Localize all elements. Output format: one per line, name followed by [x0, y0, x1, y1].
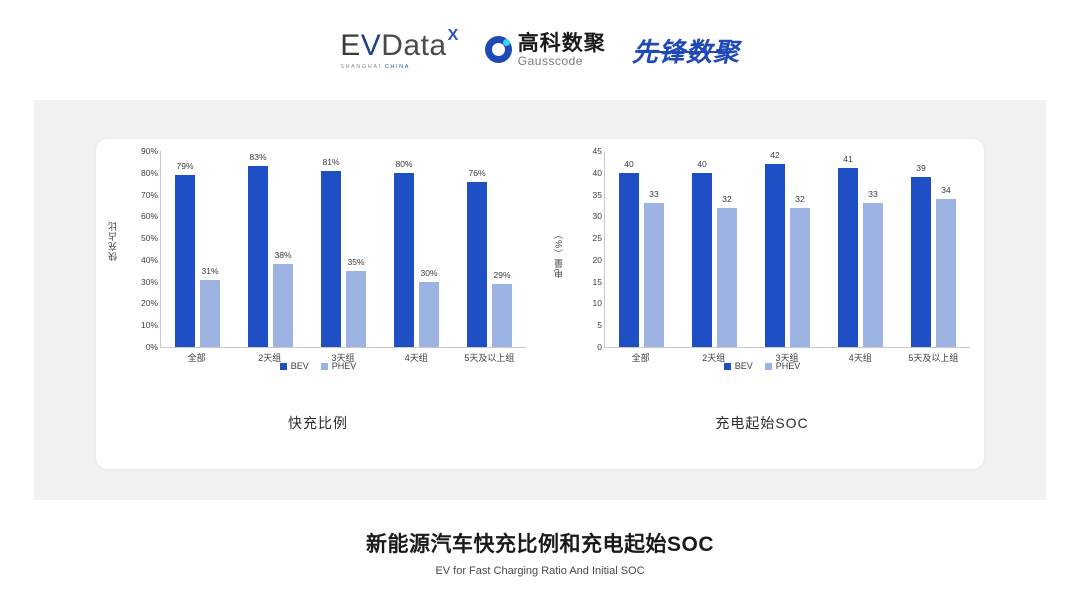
evdata-letter-v: V: [361, 31, 382, 61]
bar-group: 4033: [605, 151, 678, 347]
bar-phev: 33: [863, 203, 883, 347]
bar-phev: 31%: [200, 280, 220, 348]
chart-card: 快充占比 0%10%20%30%40%50%60%70%80%90% 79%31…: [96, 139, 984, 469]
legend-item-phev: PHEV: [765, 361, 801, 371]
bar-group: 81%35%: [307, 151, 380, 347]
y-tick-label: 10: [593, 298, 602, 308]
bar-value-label: 79%: [176, 161, 193, 171]
y-tick-label: 20: [593, 255, 602, 265]
bar-value-label: 30%: [420, 268, 437, 278]
y-tick-label: 40%: [141, 255, 158, 265]
legend-label: BEV: [291, 361, 309, 371]
legend-1: BEVPHEV: [96, 361, 540, 371]
gausscode-name-cn: 高科数聚: [518, 33, 606, 55]
bar-group: 79%31%: [161, 151, 234, 347]
evdata-subtitle: SHANGHAI CHINA: [340, 64, 410, 70]
y-tick-label: 60%: [141, 211, 158, 221]
bar-groups-1: 79%31%83%38%81%35%80%30%76%29%: [161, 151, 526, 347]
footer: 新能源汽车快充比例和充电起始SOC EV for Fast Charging R…: [0, 528, 1080, 577]
y-tick-label: 70%: [141, 190, 158, 200]
bar-value-label: 29%: [493, 270, 510, 280]
bar-value-label: 41: [843, 154, 852, 164]
bar-bev: 39: [911, 177, 931, 347]
legend-swatch-icon: [280, 363, 287, 370]
legend-swatch-icon: [321, 363, 328, 370]
legend-label: BEV: [735, 361, 753, 371]
page-subtitle: EV for Fast Charging Ratio And Initial S…: [0, 565, 1080, 577]
plot-area-1: 快充占比 0%10%20%30%40%50%60%70%80%90% 79%31…: [96, 151, 540, 381]
y-axis-ticks-2: 051015202530354045: [568, 151, 602, 347]
bar-phev: 32: [717, 208, 737, 347]
bar-phev: 32: [790, 208, 810, 347]
y-tick-label: 30: [593, 211, 602, 221]
bar-group: 76%29%: [453, 151, 526, 347]
y-tick-label: 0%: [146, 342, 158, 352]
evdata-wordmark: EVDataX: [340, 31, 459, 61]
bar-value-label: 83%: [249, 152, 266, 162]
bar-bev: 81%: [321, 171, 341, 347]
chart-caption-1: 快充比例: [96, 413, 540, 433]
bar-bev: 76%: [467, 182, 487, 348]
charts-container: 快充占比 0%10%20%30%40%50%60%70%80%90% 79%31…: [96, 139, 984, 469]
evdata-subtitle-cn: CHINA: [385, 64, 410, 70]
bar-value-label: 80%: [395, 159, 412, 169]
bar-phev: 29%: [492, 284, 512, 347]
legend-swatch-icon: [765, 363, 772, 370]
legend-label: PHEV: [332, 361, 357, 371]
legend-2: BEVPHEV: [540, 361, 984, 371]
bar-bev: 79%: [175, 175, 195, 347]
bar-value-label: 33: [649, 189, 658, 199]
y-tick-label: 30%: [141, 277, 158, 287]
plot-1: 79%31%83%38%81%35%80%30%76%29%: [160, 151, 526, 348]
evdata-letter-e: E: [340, 31, 361, 61]
bar-value-label: 76%: [468, 168, 485, 178]
bar-value-label: 40: [624, 159, 633, 169]
gausscode-logo-icon: [485, 36, 512, 63]
bar-group: 4133: [824, 151, 897, 347]
chart-initial-soc: 电量（%） 051015202530354045 403340324232413…: [540, 139, 984, 469]
y-axis-ticks-1: 0%10%20%30%40%50%60%70%80%90%: [124, 151, 158, 347]
y-tick-label: 10%: [141, 320, 158, 330]
plot-2: 40334032423241333934: [604, 151, 970, 348]
y-tick-label: 40: [593, 168, 602, 178]
legend-item-phev: PHEV: [321, 361, 357, 371]
y-tick-label: 0: [597, 342, 602, 352]
y-tick-label: 80%: [141, 168, 158, 178]
bar-group: 80%30%: [380, 151, 453, 347]
y-tick-label: 20%: [141, 298, 158, 308]
gausscode-logo: 高科数聚 Gausscode: [485, 33, 606, 68]
chart-fast-charging-ratio: 快充占比 0%10%20%30%40%50%60%70%80%90% 79%31…: [96, 139, 540, 469]
bar-value-label: 31%: [201, 266, 218, 276]
bar-phev: 34: [936, 199, 956, 347]
legend-label: PHEV: [776, 361, 801, 371]
bar-phev: 38%: [273, 264, 293, 347]
logo-bar: EVDataX SHANGHAI CHINA 高科数聚 Gausscode 先锋…: [0, 22, 1080, 78]
bar-value-label: 39: [916, 163, 925, 173]
bar-groups-2: 40334032423241333934: [605, 151, 970, 347]
page-title: 新能源汽车快充比例和充电起始SOC: [0, 528, 1080, 558]
legend-item-bev: BEV: [724, 361, 753, 371]
gausscode-wordmark: 高科数聚 Gausscode: [518, 33, 606, 68]
bar-value-label: 32: [722, 194, 731, 204]
bar-group: 4032: [678, 151, 751, 347]
y-axis-title-2: 电量（%）: [552, 229, 565, 278]
y-tick-label: 5: [597, 320, 602, 330]
evdata-subtitle-en: SHANGHAI: [340, 64, 385, 70]
bar-value-label: 34: [941, 185, 950, 195]
bar-group: 83%38%: [234, 151, 307, 347]
xianfeng-logo: 先锋数聚: [632, 32, 740, 69]
plot-area-2: 电量（%） 051015202530354045 403340324232413…: [540, 151, 984, 381]
legend-item-bev: BEV: [280, 361, 309, 371]
bar-bev: 40: [619, 173, 639, 347]
evdata-word-data: Data: [381, 31, 446, 61]
bar-phev: 30%: [419, 282, 439, 347]
bar-bev: 42: [765, 164, 785, 347]
bar-value-label: 32: [795, 194, 804, 204]
legend-swatch-icon: [724, 363, 731, 370]
y-tick-label: 35: [593, 190, 602, 200]
chart-panel: 快充占比 0%10%20%30%40%50%60%70%80%90% 79%31…: [34, 100, 1046, 500]
bar-value-label: 33: [868, 189, 877, 199]
bar-group: 3934: [897, 151, 970, 347]
bar-value-label: 42: [770, 150, 779, 160]
bar-phev: 33: [644, 203, 664, 347]
y-tick-label: 25: [593, 233, 602, 243]
y-axis-title-1: 快充占比: [106, 221, 119, 261]
bar-bev: 80%: [394, 173, 414, 347]
bar-value-label: 35%: [347, 257, 364, 267]
bar-value-label: 81%: [322, 157, 339, 167]
y-tick-label: 15: [593, 277, 602, 287]
bar-group: 4232: [751, 151, 824, 347]
evdata-x-icon: X: [448, 28, 459, 44]
y-tick-label: 90%: [141, 146, 158, 156]
chart-caption-2: 充电起始SOC: [540, 413, 984, 433]
y-tick-label: 50%: [141, 233, 158, 243]
bar-bev: 41: [838, 168, 858, 347]
bar-value-label: 40: [697, 159, 706, 169]
bar-bev: 83%: [248, 166, 268, 347]
y-tick-label: 45: [593, 146, 602, 156]
gausscode-name-en: Gausscode: [518, 55, 606, 68]
bar-phev: 35%: [346, 271, 366, 347]
bar-value-label: 38%: [274, 250, 291, 260]
evdata-logo: EVDataX SHANGHAI CHINA: [340, 31, 459, 70]
bar-bev: 40: [692, 173, 712, 347]
